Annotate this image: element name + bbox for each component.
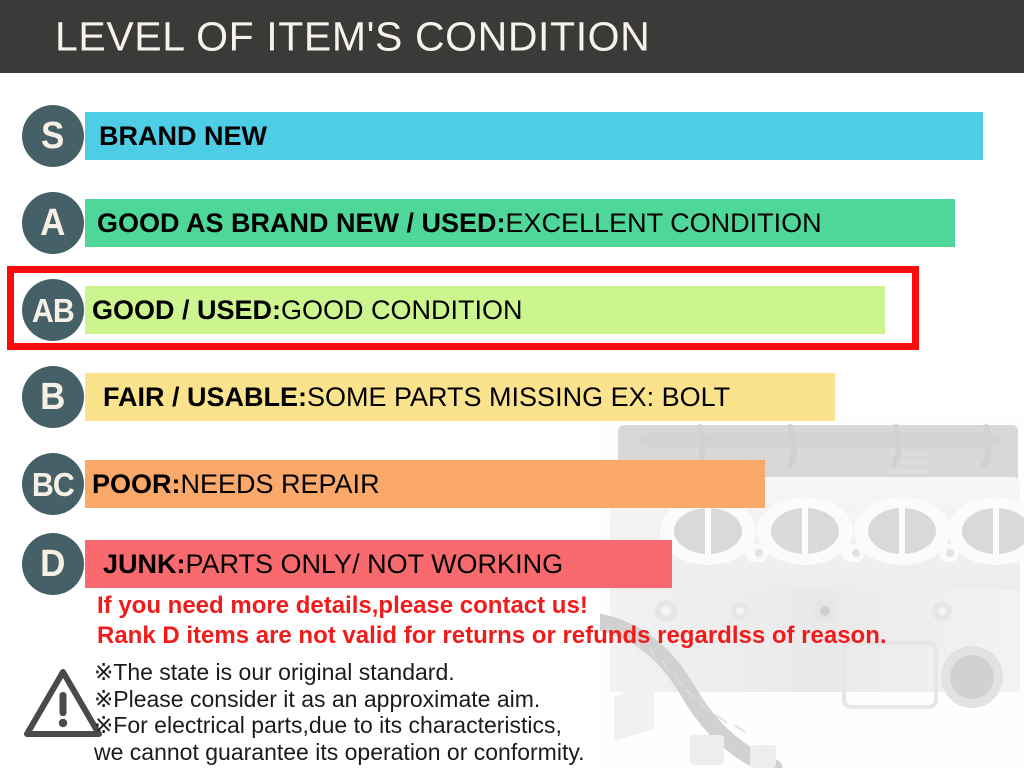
rank-text-a: GOOD AS BRAND NEW / USED: EXCELLENT COND… bbox=[97, 199, 822, 247]
rank-badge-bc: BC bbox=[22, 453, 84, 515]
rank-bold-label-b: FAIR / USABLE: bbox=[103, 382, 307, 413]
rank-badge-label-a: A bbox=[40, 204, 65, 242]
rank-badge-label-s: S bbox=[41, 117, 64, 155]
rank-text-bc: POOR: NEEDS REPAIR bbox=[92, 460, 380, 508]
rank-badge-s: S bbox=[22, 105, 84, 167]
footnote-line-1: ※The state is our original standard. bbox=[94, 659, 585, 686]
rank-badge-label-ab: AB bbox=[32, 294, 74, 327]
rank-badge-ab: AB bbox=[22, 279, 84, 341]
rank-badge-label-b: B bbox=[40, 378, 65, 416]
rank-badge-label-d: D bbox=[40, 545, 65, 583]
footnote-line-3: ※For electrical parts,due to its charact… bbox=[94, 712, 585, 739]
rank-detail-d: PARTS ONLY/ NOT WORKING bbox=[186, 549, 564, 580]
rank-row-bc: BC POOR: NEEDS REPAIR bbox=[0, 453, 1024, 515]
rank-row-a: A GOOD AS BRAND NEW / USED: EXCELLENT CO… bbox=[0, 192, 1024, 254]
warning-triangle-icon bbox=[22, 665, 104, 741]
rank-text-s: BRAND NEW bbox=[99, 112, 267, 160]
condition-level-infographic: LEVEL OF ITEM'S CONDITION S BRAND NEW A … bbox=[0, 0, 1024, 768]
warning-line-contact: If you need more details,please contact … bbox=[97, 592, 588, 620]
rank-row-ab: AB GOOD / USED: GOOD CONDITION bbox=[0, 279, 1024, 341]
rank-detail-bc: NEEDS REPAIR bbox=[181, 469, 380, 500]
footnote-line-2: ※Please consider it as an approximate ai… bbox=[94, 686, 585, 713]
rank-badge-label-bc: BC bbox=[32, 468, 74, 501]
rank-bold-label-s: BRAND NEW bbox=[99, 121, 267, 152]
rank-bold-label-ab: GOOD / USED: bbox=[92, 295, 281, 326]
rank-row-d: D JUNK: PARTS ONLY/ NOT WORKING bbox=[0, 533, 1024, 595]
rank-badge-b: B bbox=[22, 366, 84, 428]
rank-row-b: B FAIR / USABLE: SOME PARTS MISSING EX: … bbox=[0, 366, 1024, 428]
rank-detail-a: EXCELLENT CONDITION bbox=[506, 208, 822, 239]
header-bar: LEVEL OF ITEM'S CONDITION bbox=[0, 0, 1024, 73]
rank-text-b: FAIR / USABLE: SOME PARTS MISSING EX: BO… bbox=[103, 373, 730, 421]
rank-bold-label-a: GOOD AS BRAND NEW / USED: bbox=[97, 208, 506, 239]
rank-detail-b: SOME PARTS MISSING EX: BOLT bbox=[307, 382, 730, 413]
page-title: LEVEL OF ITEM'S CONDITION bbox=[55, 13, 650, 60]
rank-text-ab: GOOD / USED: GOOD CONDITION bbox=[92, 286, 523, 334]
rank-bold-label-d: JUNK: bbox=[103, 549, 186, 580]
rank-badge-d: D bbox=[22, 533, 84, 595]
warning-line-rank-d-policy: Rank D items are not valid for returns o… bbox=[97, 622, 887, 650]
footnote-line-4: we cannot guarantee its operation or con… bbox=[94, 739, 585, 766]
rank-text-d: JUNK: PARTS ONLY/ NOT WORKING bbox=[103, 540, 563, 588]
rank-detail-ab: GOOD CONDITION bbox=[281, 295, 523, 326]
rank-bold-label-bc: POOR: bbox=[92, 469, 181, 500]
footnote-list: ※The state is our original standard. ※Pl… bbox=[94, 659, 585, 765]
rank-row-s: S BRAND NEW bbox=[0, 105, 1024, 167]
rank-badge-a: A bbox=[22, 192, 84, 254]
